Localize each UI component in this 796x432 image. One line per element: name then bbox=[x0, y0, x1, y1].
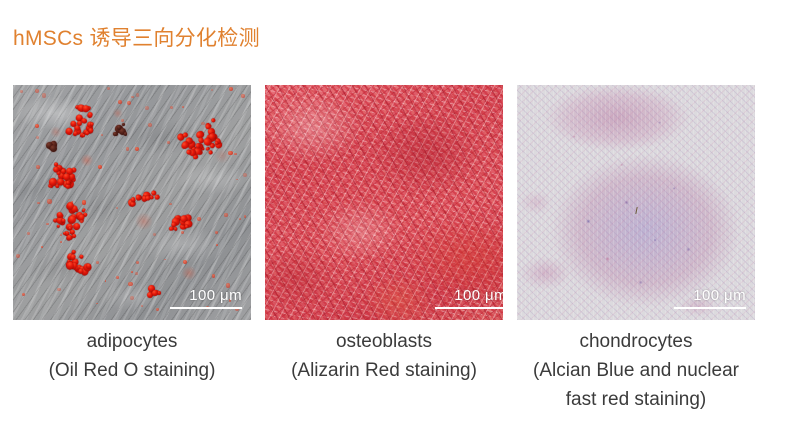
lipid-droplet bbox=[82, 200, 86, 204]
lipid-droplet bbox=[148, 123, 152, 127]
lipid-droplet bbox=[131, 96, 134, 99]
lipid-droplet bbox=[136, 93, 140, 97]
lipid-droplet bbox=[121, 119, 124, 122]
lipid-droplet bbox=[105, 280, 107, 282]
lipid-droplet-cluster bbox=[65, 100, 102, 143]
micrograph-panel-chondrocytes[interactable]: 100 μm bbox=[517, 85, 755, 320]
caption-line: chondrocytes bbox=[517, 327, 755, 356]
caption-line: fast red staining) bbox=[517, 385, 755, 414]
scale-bar-label: 100 μm bbox=[170, 288, 242, 304]
lipid-droplet bbox=[41, 246, 43, 248]
lipid-droplet bbox=[37, 202, 40, 205]
lipid-droplet bbox=[101, 134, 103, 136]
lipid-droplet bbox=[57, 288, 60, 291]
lipid-droplet bbox=[181, 231, 184, 234]
lipid-droplet bbox=[118, 100, 122, 104]
lipid-droplet bbox=[234, 153, 237, 156]
lipid-droplet bbox=[182, 106, 184, 108]
lipid-droplet bbox=[36, 165, 40, 169]
lipid-droplet bbox=[127, 101, 131, 105]
lipid-droplet bbox=[197, 217, 201, 221]
lipid-droplet bbox=[96, 303, 98, 305]
lipid-droplet bbox=[27, 232, 30, 235]
lipid-droplet bbox=[236, 179, 238, 181]
scale-bar-label: 100 μm bbox=[435, 288, 503, 304]
lipid-droplet bbox=[60, 241, 62, 243]
micrograph-panel-adipocytes[interactable]: 100 μm bbox=[13, 85, 251, 320]
lipid-droplet bbox=[136, 261, 139, 264]
lipid-droplet bbox=[22, 293, 25, 296]
lipid-droplet bbox=[96, 261, 99, 264]
lipid-droplet bbox=[20, 90, 23, 93]
lipid-droplet bbox=[135, 272, 138, 275]
oil-red-o-lipid-droplets bbox=[13, 85, 251, 320]
lipid-droplet bbox=[167, 141, 170, 144]
lipid-droplet-cluster bbox=[60, 248, 96, 281]
lipid-droplet bbox=[128, 282, 132, 286]
caption-line: adipocytes bbox=[13, 327, 251, 356]
scale-bar-chondrocytes: 100 μm bbox=[674, 288, 746, 309]
lipid-droplet bbox=[80, 220, 83, 223]
lipid-droplet bbox=[212, 274, 216, 278]
lipid-droplet bbox=[215, 231, 218, 234]
lipid-droplet bbox=[42, 93, 46, 97]
caption-line: (Alcian Blue and nuclear bbox=[517, 356, 755, 385]
lipid-droplet bbox=[135, 147, 139, 151]
lipid-droplet-cluster bbox=[147, 285, 161, 299]
lipid-droplet bbox=[36, 136, 39, 139]
lipid-droplet bbox=[228, 151, 232, 155]
lipid-droplet bbox=[60, 234, 62, 236]
lipid-droplet bbox=[243, 173, 247, 177]
lipid-droplet bbox=[107, 87, 110, 90]
scale-bar-line bbox=[170, 307, 242, 309]
panel-captions: adipocytes (Oil Red O staining) osteobla… bbox=[13, 327, 755, 414]
lipid-droplet-cluster bbox=[167, 211, 194, 233]
scale-bar-osteoblasts: 100 μm bbox=[435, 288, 503, 309]
caption-osteoblasts: osteoblasts (Alizarin Red staining) bbox=[265, 327, 503, 414]
lipid-droplet bbox=[211, 89, 213, 91]
micrograph-panel-osteoblasts[interactable]: 100 μm bbox=[265, 85, 503, 320]
lipid-droplet-cluster bbox=[112, 123, 128, 137]
lipid-droplet bbox=[130, 296, 134, 300]
scale-bar-adipocytes: 100 μm bbox=[170, 288, 242, 309]
lipid-droplet bbox=[47, 199, 51, 203]
lipid-droplet bbox=[35, 124, 39, 128]
lipid-droplet-cluster bbox=[45, 140, 59, 152]
nuclear-fast-red-nuclei bbox=[517, 85, 755, 320]
lipid-droplet bbox=[141, 305, 143, 307]
lipid-droplet bbox=[156, 308, 159, 311]
scale-bar-line bbox=[674, 307, 746, 309]
lipid-droplet-cluster bbox=[125, 185, 162, 209]
caption-line: osteoblasts bbox=[265, 327, 503, 356]
caption-adipocytes: adipocytes (Oil Red O staining) bbox=[13, 327, 251, 414]
lipid-droplet bbox=[241, 94, 244, 97]
lipid-droplet bbox=[16, 254, 20, 258]
figure-root: hMSCs 诱导三向分化检测 100 μm 100 μm bbox=[0, 0, 796, 432]
lipid-droplet bbox=[244, 215, 247, 218]
scale-bar-line bbox=[435, 307, 503, 309]
scale-bar-label: 100 μm bbox=[674, 288, 746, 304]
lipid-droplet bbox=[170, 106, 173, 109]
lipid-droplet bbox=[169, 203, 172, 206]
lipid-droplet bbox=[183, 260, 187, 264]
caption-line: (Oil Red O staining) bbox=[13, 356, 251, 385]
lipid-droplet bbox=[145, 106, 149, 110]
lipid-droplet-cluster bbox=[47, 161, 81, 194]
lipid-droplet bbox=[98, 165, 102, 169]
lipid-droplet bbox=[164, 259, 166, 261]
lipid-droplet bbox=[153, 233, 157, 237]
micrograph-panel-row: 100 μm 100 μm 100 μm bbox=[13, 85, 755, 320]
lipid-droplet bbox=[116, 207, 118, 209]
lipid-droplet bbox=[229, 87, 233, 91]
lipid-droplet bbox=[224, 213, 227, 216]
lipid-droplet bbox=[46, 223, 49, 226]
alizarin-red-mineral-blotches bbox=[265, 85, 503, 320]
caption-line: (Alizarin Red staining) bbox=[265, 356, 503, 385]
page-title: hMSCs 诱导三向分化检测 bbox=[13, 22, 260, 52]
caption-chondrocytes: chondrocytes (Alcian Blue and nuclear fa… bbox=[517, 327, 755, 414]
lipid-droplet bbox=[239, 218, 241, 220]
lipid-droplet bbox=[131, 271, 133, 273]
lipid-droplet bbox=[35, 89, 39, 93]
lipid-droplet bbox=[126, 147, 129, 150]
lipid-droplet bbox=[116, 276, 119, 279]
lipid-droplet bbox=[216, 244, 218, 246]
lipid-droplet-cluster bbox=[46, 197, 93, 245]
